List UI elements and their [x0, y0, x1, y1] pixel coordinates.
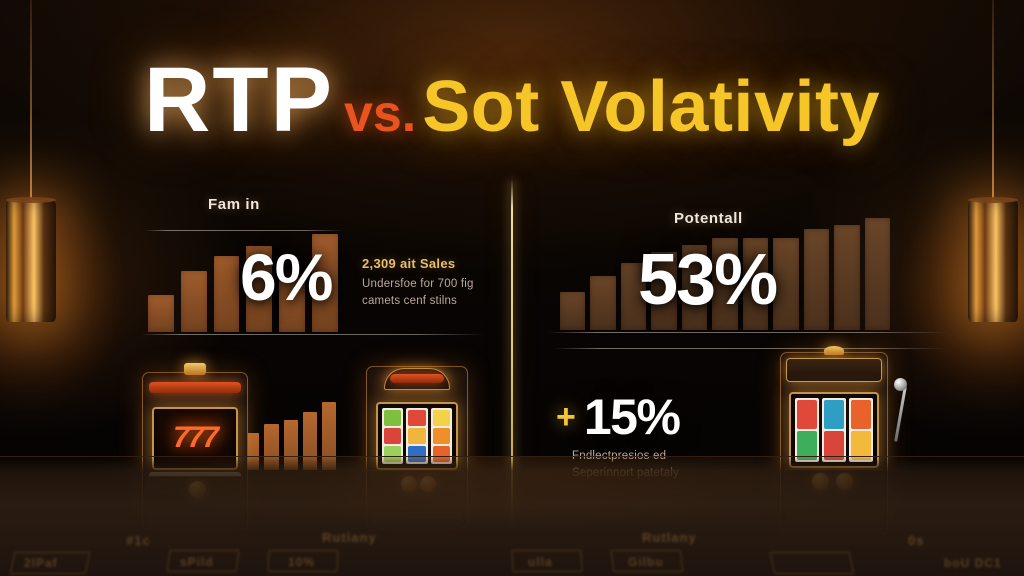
bar-2 [181, 271, 207, 332]
left-rule-bottom [140, 334, 485, 335]
floor-box-label: sPild [180, 555, 214, 569]
title-volatility: Sot Volativity [422, 67, 880, 147]
slot-reel-1 [795, 398, 819, 462]
floor-mark: Rutiany [322, 530, 377, 545]
slot-symbol [824, 400, 844, 429]
left-panel-heading: Fam in [208, 196, 260, 213]
slot-lever-ball[interactable] [894, 378, 907, 391]
bar-8 [773, 238, 798, 330]
slot-symbol [384, 410, 401, 426]
floor-mark: Rutlany [642, 530, 697, 545]
floor-box [770, 552, 855, 574]
bar-11 [865, 218, 890, 330]
slot-symbol [408, 410, 425, 426]
floor-box-label: 10% [288, 555, 315, 569]
increase-stat: + 15% [556, 392, 679, 442]
slot-symbol [408, 428, 425, 444]
slot-symbol [433, 428, 450, 444]
floor-box-label: ulla [528, 555, 553, 569]
slot-reel-3 [849, 398, 873, 462]
right-rule-top [548, 332, 948, 333]
floor-box-label: 2lPaf [24, 556, 58, 570]
title-vs: vs. [344, 85, 416, 143]
floor-mark: #1c [126, 533, 151, 548]
slot-symbol [851, 400, 871, 429]
left-stat-value: 6% [240, 244, 331, 310]
slot-symbol [797, 400, 817, 429]
left-rule-top [144, 230, 344, 231]
floor-box-label: boU DC1 [944, 556, 1002, 570]
left-note: 2,309 ait Sales Undersfoe for 700 figcam… [362, 256, 502, 309]
bar-9 [804, 229, 829, 330]
slot-symbol [433, 410, 450, 426]
plus-sign: + [556, 400, 576, 434]
bar-3 [214, 256, 240, 332]
left-note-title: 2,309 ait Sales [362, 256, 502, 271]
page-title: RTPvs.Sot Volativity [0, 54, 1024, 146]
bar-10 [834, 225, 859, 330]
slot-marquee [786, 358, 881, 382]
floor-box-label: Gilbu [628, 555, 664, 569]
bar-1 [148, 295, 174, 332]
slot-symbol [384, 428, 401, 444]
floor-mark: 0s [908, 533, 924, 548]
slot-marquee [149, 382, 240, 393]
slot-marquee [390, 374, 443, 383]
lamp-shade-left [6, 200, 56, 322]
bar-1 [560, 292, 585, 330]
increase-stat-value: 15% [584, 392, 680, 442]
right-rule-bottom [554, 348, 944, 349]
lamp-shade-right [968, 200, 1018, 322]
slot-reel-2 [822, 398, 846, 462]
slot-topper-light [824, 346, 844, 355]
right-stat-value: 53% [638, 244, 776, 316]
left-note-body: Undersfoe for 700 figcamets cenf stilns [362, 276, 502, 309]
bar-2 [590, 276, 615, 330]
slot-topper-light [184, 363, 206, 375]
title-rtp: RTP [144, 49, 334, 151]
